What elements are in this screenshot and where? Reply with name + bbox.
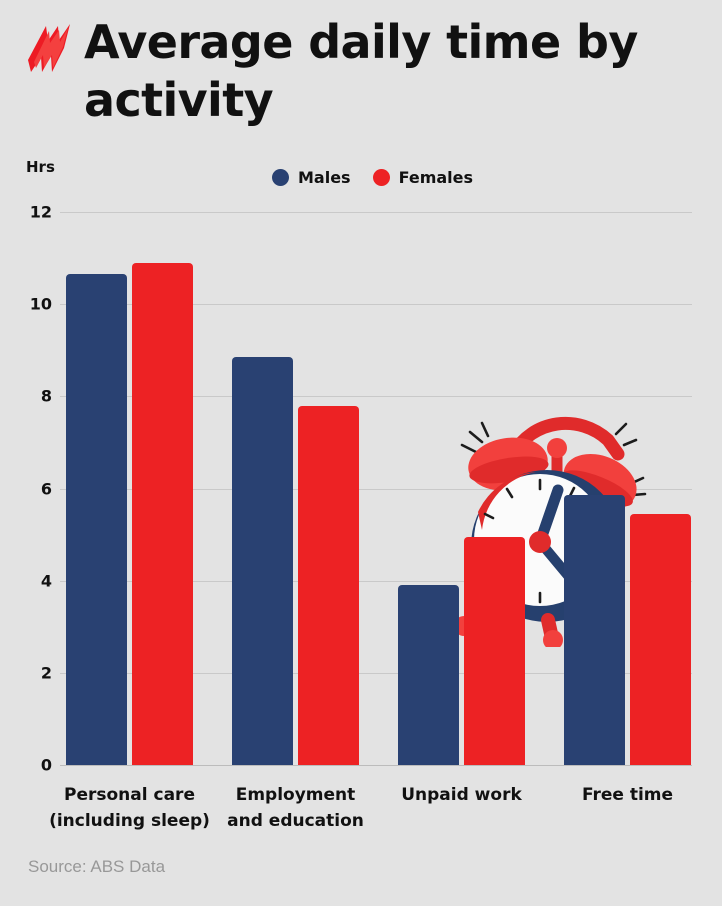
chart-legend: Males Females: [272, 168, 473, 187]
bar-females-0[interactable]: [132, 263, 193, 765]
chart-header: Average daily time by activity: [0, 0, 722, 145]
legend-swatch-females-icon: [373, 169, 390, 186]
page-title: Average daily time by activity: [84, 13, 694, 129]
x-axis-label-line: and education: [198, 808, 393, 834]
x-axis-label-line: Free time: [530, 782, 722, 808]
bar-females-3[interactable]: [630, 514, 691, 765]
legend-item-males[interactable]: Males: [272, 168, 351, 187]
bar-males-0[interactable]: [66, 274, 127, 765]
infographic-chart-card: Average daily time by activity Hrs Males…: [0, 0, 722, 906]
y-axis-unit-label: Hrs: [26, 158, 55, 176]
plot-area: 024681012: [0, 200, 722, 780]
sbs-logo: [18, 22, 80, 74]
legend-swatch-males-icon: [272, 169, 289, 186]
legend-label-males: Males: [298, 168, 351, 187]
bar-males-1[interactable]: [232, 357, 293, 765]
bar-males-3[interactable]: [564, 495, 625, 765]
legend-label-females: Females: [399, 168, 473, 187]
bar-series-layer: [0, 200, 722, 780]
x-axis-group-label: Free time: [530, 782, 722, 808]
bar-females-2[interactable]: [464, 537, 525, 765]
bar-males-2[interactable]: [398, 585, 459, 765]
source-note: Source: ABS Data: [28, 857, 165, 877]
x-axis-labels: Personal care(including sleep)Employment…: [0, 782, 722, 844]
legend-item-females[interactable]: Females: [373, 168, 473, 187]
bar-females-1[interactable]: [298, 406, 359, 765]
